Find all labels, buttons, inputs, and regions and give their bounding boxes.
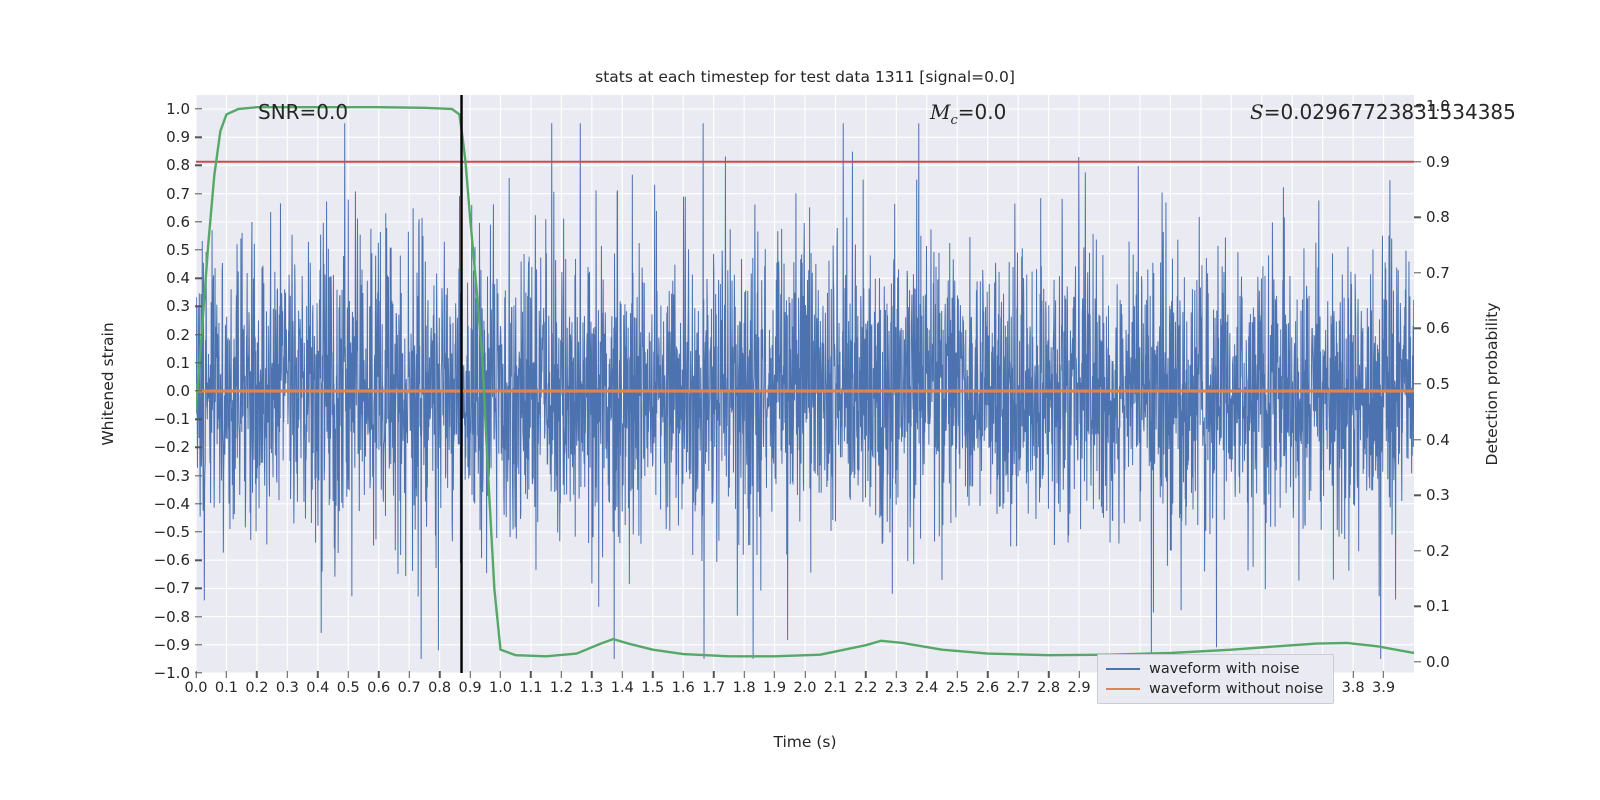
y-tick-left-minus0p1: −0.1 <box>154 410 190 428</box>
x-tick-0p9: 0.9 <box>459 680 482 696</box>
tick-mark <box>1383 671 1384 678</box>
chart-title: stats at each timestep for test data 131… <box>196 68 1414 86</box>
plot-svg <box>196 95 1414 673</box>
tick-mark <box>195 560 202 561</box>
y-axis-left-label: Whitened strain <box>99 322 117 445</box>
mc-subscript: c <box>950 113 957 128</box>
annotation-snr: SNR=0.0 <box>258 100 348 124</box>
annotation-statistic: S=0.02967723831534385 <box>1250 100 1516 124</box>
tick-mark <box>195 165 202 166</box>
y-tick-right-0p8: 0.8 <box>1426 208 1450 226</box>
tick-mark <box>987 671 988 678</box>
y-tick-right-0p1: 0.1 <box>1426 597 1450 615</box>
tick-mark <box>195 249 202 250</box>
y-tick-left-minus0p3: −0.3 <box>154 467 190 485</box>
tick-mark <box>896 671 897 678</box>
x-tick-0p7: 0.7 <box>398 680 421 696</box>
tick-mark <box>1078 671 1079 678</box>
tick-mark <box>408 671 409 678</box>
x-axis-label: Time (s) <box>773 733 836 751</box>
tick-mark <box>561 671 562 678</box>
tick-mark <box>1414 272 1421 273</box>
x-tick-1p4: 1.4 <box>611 680 634 696</box>
tick-mark <box>195 419 202 420</box>
x-tick-1p1: 1.1 <box>519 680 542 696</box>
x-tick-0p8: 0.8 <box>428 680 451 696</box>
tick-mark <box>195 306 202 307</box>
tick-mark <box>348 671 349 678</box>
tick-mark <box>195 334 202 335</box>
x-tick-1p2: 1.2 <box>550 680 573 696</box>
tick-mark <box>256 671 257 678</box>
tick-mark <box>500 671 501 678</box>
tick-mark <box>195 221 202 222</box>
x-tick-2p9: 2.9 <box>1068 680 1091 696</box>
legend-swatch-line <box>1106 688 1140 690</box>
mc-symbol: M <box>930 100 950 124</box>
y-tick-left-minus0p7: −0.7 <box>154 579 190 597</box>
tick-mark <box>957 671 958 678</box>
tick-mark <box>1414 439 1421 440</box>
y-tick-left-minus0p8: −0.8 <box>154 608 190 626</box>
tick-mark <box>195 362 202 363</box>
tick-mark <box>195 671 196 678</box>
x-tick-2p8: 2.8 <box>1037 680 1060 696</box>
tick-mark <box>1414 217 1421 218</box>
x-tick-0p3: 0.3 <box>276 680 299 696</box>
x-tick-2p2: 2.2 <box>854 680 877 696</box>
y-tick-left-minus0p5: −0.5 <box>154 523 190 541</box>
tick-mark <box>195 137 202 138</box>
y-tick-right-0p4: 0.4 <box>1426 431 1450 449</box>
tick-mark <box>926 671 927 678</box>
y-tick-left-minus0p6: −0.6 <box>154 551 190 569</box>
tick-mark <box>682 671 683 678</box>
x-tick-3p9: 3.9 <box>1372 680 1395 696</box>
tick-mark <box>195 278 202 279</box>
x-tick-2p7: 2.7 <box>1007 680 1030 696</box>
x-tick-2p0: 2.0 <box>793 680 816 696</box>
x-tick-3p8: 3.8 <box>1342 680 1365 696</box>
tick-mark <box>1414 328 1421 329</box>
x-tick-1p8: 1.8 <box>733 680 756 696</box>
y-tick-left-0p8: 0.8 <box>166 156 190 174</box>
tick-mark <box>1414 550 1421 551</box>
x-tick-2p4: 2.4 <box>915 680 938 696</box>
tick-mark <box>652 671 653 678</box>
x-tick-2p5: 2.5 <box>946 680 969 696</box>
y-tick-left-0p9: 0.9 <box>166 128 190 146</box>
tick-mark <box>804 671 805 678</box>
tick-mark <box>1048 671 1049 678</box>
x-tick-1p5: 1.5 <box>641 680 664 696</box>
x-tick-0p5: 0.5 <box>337 680 360 696</box>
tick-mark <box>195 644 202 645</box>
x-tick-0p4: 0.4 <box>306 680 329 696</box>
mc-value: =0.0 <box>958 100 1007 124</box>
y-tick-left-0p0: 0.0 <box>166 382 190 400</box>
x-tick-1p7: 1.7 <box>702 680 725 696</box>
x-tick-2p6: 2.6 <box>976 680 999 696</box>
tick-mark <box>469 671 470 678</box>
x-tick-0p2: 0.2 <box>245 680 268 696</box>
tick-mark <box>713 671 714 678</box>
tick-mark <box>1414 494 1421 495</box>
tick-mark <box>195 447 202 448</box>
tick-mark <box>622 671 623 678</box>
tick-mark <box>1017 671 1018 678</box>
x-tick-2p1: 2.1 <box>824 680 847 696</box>
y-tick-right-0p3: 0.3 <box>1426 486 1450 504</box>
tick-mark <box>865 671 866 678</box>
x-tick-1p6: 1.6 <box>672 680 695 696</box>
tick-mark <box>195 475 202 476</box>
y-tick-left-minus0p2: −0.2 <box>154 438 190 456</box>
tick-mark <box>774 671 775 678</box>
tick-mark <box>835 671 836 678</box>
y-tick-left-0p1: 0.1 <box>166 354 190 372</box>
y-tick-left-0p2: 0.2 <box>166 326 190 344</box>
x-tick-1p0: 1.0 <box>489 680 512 696</box>
figure-canvas: stats at each timestep for test data 131… <box>0 0 1600 800</box>
s-symbol: S <box>1250 100 1264 124</box>
y-tick-right-0p5: 0.5 <box>1426 375 1450 393</box>
plot-axes <box>196 95 1414 673</box>
y-tick-right-0p9: 0.9 <box>1426 153 1450 171</box>
y-tick-left-0p6: 0.6 <box>166 213 190 231</box>
plot-clip-region <box>196 95 1414 673</box>
tick-mark <box>439 671 440 678</box>
y-tick-left-0p5: 0.5 <box>166 241 190 259</box>
y-axis-right-label: Detection probability <box>1483 303 1501 466</box>
tick-mark <box>287 671 288 678</box>
tick-mark <box>195 616 202 617</box>
annotation-chirp-mass: Mc=0.0 <box>930 100 1006 128</box>
tick-mark <box>195 108 202 109</box>
tick-mark <box>195 193 202 194</box>
x-tick-1p3: 1.3 <box>580 680 603 696</box>
y-tick-right-0p2: 0.2 <box>1426 542 1450 560</box>
tick-mark <box>591 671 592 678</box>
tick-mark <box>1414 606 1421 607</box>
x-tick-2p3: 2.3 <box>885 680 908 696</box>
tick-mark <box>378 671 379 678</box>
y-tick-left-0p3: 0.3 <box>166 297 190 315</box>
tick-mark <box>195 503 202 504</box>
x-tick-1p9: 1.9 <box>763 680 786 696</box>
tick-mark <box>743 671 744 678</box>
y-tick-left-minus0p9: −0.9 <box>154 636 190 654</box>
legend-item-1[interactable]: waveform without noise <box>1106 681 1323 697</box>
y-tick-left-0p7: 0.7 <box>166 185 190 203</box>
x-tick-0p1: 0.1 <box>215 680 238 696</box>
legend-label: waveform with noise <box>1149 661 1300 677</box>
tick-mark <box>1414 383 1421 384</box>
tick-mark <box>530 671 531 678</box>
y-tick-left-minus0p4: −0.4 <box>154 495 190 513</box>
y-tick-right-0p0: 0.0 <box>1426 653 1450 671</box>
x-tick-0p6: 0.6 <box>367 680 390 696</box>
tick-mark <box>1414 161 1421 162</box>
tick-mark <box>226 671 227 678</box>
tick-mark <box>1414 661 1421 662</box>
tick-mark <box>195 588 202 589</box>
legend-label: waveform without noise <box>1149 681 1323 697</box>
y-tick-left-0p4: 0.4 <box>166 269 190 287</box>
chart-legend: waveform with noisewaveform without nois… <box>1097 654 1334 704</box>
tick-mark <box>1352 671 1353 678</box>
tick-mark <box>195 531 202 532</box>
legend-item-0[interactable]: waveform with noise <box>1106 661 1323 677</box>
tick-mark <box>195 390 202 391</box>
y-tick-right-0p6: 0.6 <box>1426 319 1450 337</box>
y-tick-left-1p0: 1.0 <box>166 100 190 118</box>
tick-mark <box>317 671 318 678</box>
legend-swatch-line <box>1106 668 1140 670</box>
x-tick-0p0: 0.0 <box>184 680 207 696</box>
s-value: =0.02967723831534385 <box>1264 100 1516 124</box>
y-tick-right-0p7: 0.7 <box>1426 264 1450 282</box>
